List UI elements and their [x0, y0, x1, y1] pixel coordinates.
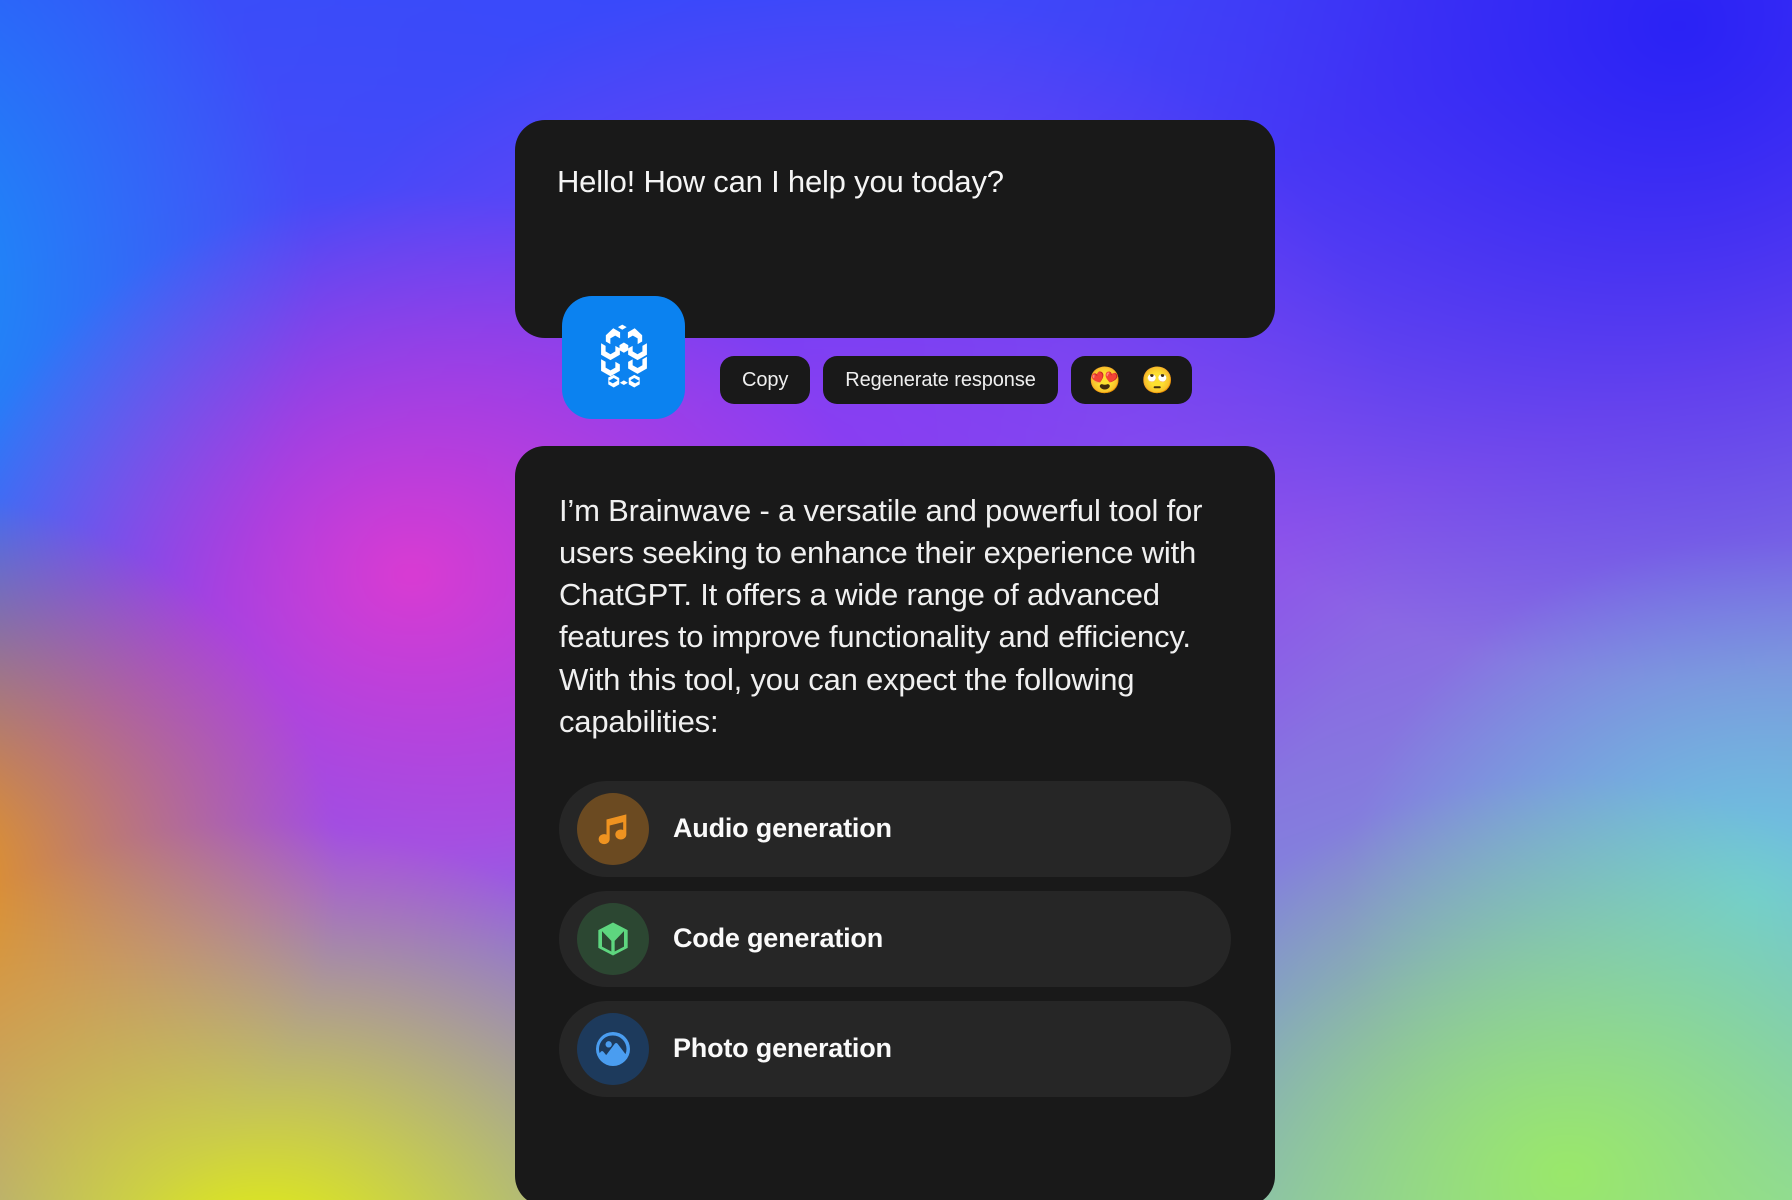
- capability-label: Code generation: [673, 923, 883, 954]
- copy-button[interactable]: Copy: [720, 356, 810, 404]
- actions-toolbar: Copy Regenerate response 😍 🙄: [720, 356, 1192, 404]
- message-action-row: Copy Regenerate response 😍 🙄: [515, 338, 1275, 446]
- answer-text: I’m Brainwave - a versatile and powerful…: [559, 490, 1224, 743]
- conversation-column: Hello! How can I help you today?: [515, 120, 1275, 1200]
- reaction-group: 😍 🙄: [1071, 356, 1192, 404]
- capability-label: Photo generation: [673, 1033, 892, 1064]
- greeting-text: Hello! How can I help you today?: [557, 162, 1233, 202]
- image-icon: [577, 1013, 649, 1085]
- capability-item-photo-generation[interactable]: Photo generation: [559, 1001, 1231, 1097]
- assistant-answer-bubble: I’m Brainwave - a versatile and powerful…: [515, 446, 1275, 1200]
- cube-icon: [577, 903, 649, 975]
- capability-item-code-generation[interactable]: Code generation: [559, 891, 1231, 987]
- heart-eyes-emoji[interactable]: 😍: [1089, 367, 1121, 393]
- capability-item-audio-generation[interactable]: Audio generation: [559, 781, 1231, 877]
- assistant-avatar: [562, 296, 685, 419]
- brainwave-logo-icon: [585, 319, 663, 397]
- rolling-eyes-emoji[interactable]: 🙄: [1141, 367, 1173, 393]
- capability-list: Audio generation Code generation Photo g…: [559, 781, 1231, 1097]
- capability-label: Audio generation: [673, 813, 892, 844]
- music-note-icon: [577, 793, 649, 865]
- regenerate-response-button[interactable]: Regenerate response: [823, 356, 1057, 404]
